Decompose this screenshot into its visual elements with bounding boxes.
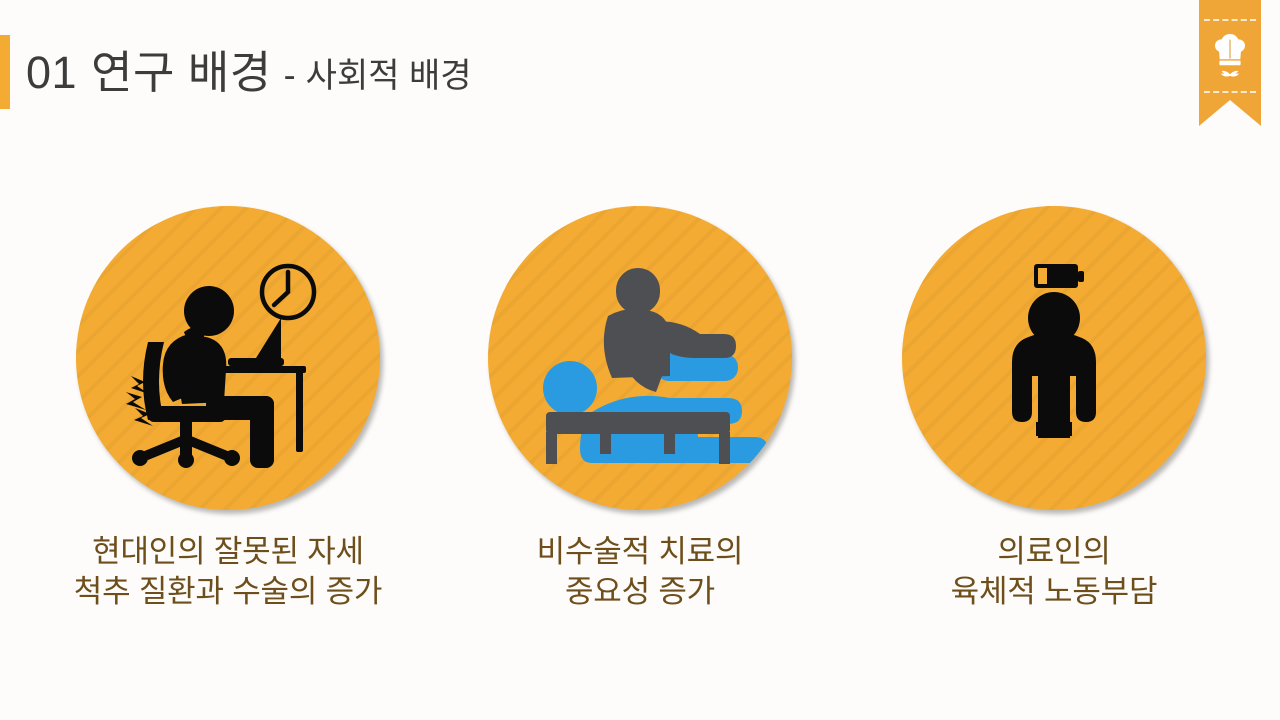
caption-line: 중요성 증가 — [470, 572, 810, 612]
caption-back-pain: 현대인의 잘못된 자세 척추 질환과 수술의 증가 — [18, 532, 438, 611]
caption-line: 비수술적 치료의 — [470, 532, 810, 572]
caption-line: 육체적 노동부담 — [884, 572, 1224, 612]
caption-manual-therapy: 비수술적 치료의 중요성 증가 — [470, 532, 810, 611]
office-worker-back-pain-icon — [76, 206, 380, 510]
manual-therapy-treatment-icon — [488, 206, 792, 510]
title-sub-text: 사회적 배경 — [306, 59, 472, 93]
ribbon-dash-bottom — [1204, 91, 1256, 93]
ribbon-badge — [1199, 0, 1261, 126]
page-title: 01 연구 배경 - 사회적 배경 — [26, 34, 472, 110]
caption-fatigue: 의료인의 육체적 노동부담 — [884, 532, 1224, 611]
title-separator: - — [284, 57, 296, 93]
caption-line: 의료인의 — [884, 532, 1224, 572]
caption-line: 척추 질환과 수술의 증가 — [18, 572, 438, 612]
icon-circle-manual-therapy — [488, 206, 792, 510]
fatigued-worker-low-battery-icon — [902, 206, 1206, 510]
title-main-text: 연구 배경 — [91, 50, 272, 95]
icon-circle-fatigue-battery — [902, 206, 1206, 510]
chef-hat-mustache-logo-icon — [1208, 30, 1252, 82]
caption-line: 현대인의 잘못된 자세 — [18, 532, 438, 572]
title-number: 01 — [26, 50, 77, 95]
title-accent-bar — [0, 35, 10, 109]
ribbon-tail — [1199, 100, 1261, 126]
icon-circle-back-pain — [76, 206, 380, 510]
slide-canvas: 01 연구 배경 - 사회적 배경 — [0, 0, 1280, 720]
ribbon-dash-top — [1204, 19, 1256, 21]
